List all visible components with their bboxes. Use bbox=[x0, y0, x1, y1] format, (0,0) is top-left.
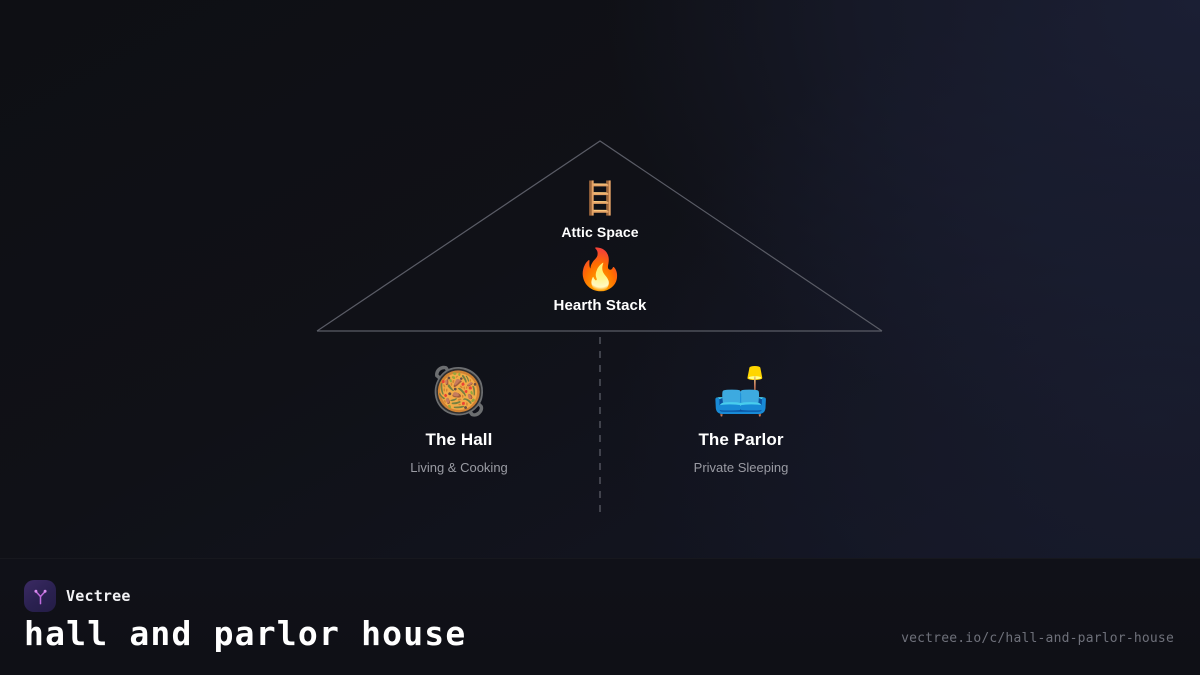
vectree-sprout-logo-icon bbox=[24, 580, 56, 612]
brand-name: Vectree bbox=[66, 587, 131, 605]
node-hearth-title: Hearth Stack bbox=[554, 297, 647, 314]
node-hall[interactable]: 🥘 The Hall Living & Cooking bbox=[359, 368, 559, 475]
node-hall-title: The Hall bbox=[426, 430, 493, 450]
house-diagram: 🪜 Attic Space 🔥 Hearth Stack 🥘 The Hall … bbox=[0, 0, 1200, 558]
fire-icon: 🔥 bbox=[575, 250, 625, 290]
footer-bar: Vectree hall and parlor house vectree.io… bbox=[0, 558, 1200, 675]
brand-row[interactable]: Vectree bbox=[24, 580, 131, 612]
node-attic[interactable]: 🪜 Attic Space bbox=[0, 182, 1200, 240]
node-parlor-title: The Parlor bbox=[698, 430, 783, 450]
node-parlor-subtitle: Private Sleeping bbox=[694, 460, 789, 475]
node-hall-subtitle: Living & Cooking bbox=[410, 460, 508, 475]
page-title: hall and parlor house bbox=[24, 614, 466, 653]
node-hearth[interactable]: 🔥 Hearth Stack bbox=[0, 250, 1200, 314]
node-attic-title: Attic Space bbox=[561, 224, 638, 240]
vectree-concept-card: 🪜 Attic Space 🔥 Hearth Stack 🥘 The Hall … bbox=[0, 0, 1200, 675]
node-parlor[interactable]: 🛋️ The Parlor Private Sleeping bbox=[641, 368, 841, 475]
paella-pan-icon: 🥘 bbox=[430, 368, 487, 414]
couch-and-lamp-icon: 🛋️ bbox=[712, 368, 769, 414]
ladder-icon: 🪜 bbox=[580, 182, 620, 214]
page-url: vectree.io/c/hall-and-parlor-house bbox=[901, 631, 1174, 646]
